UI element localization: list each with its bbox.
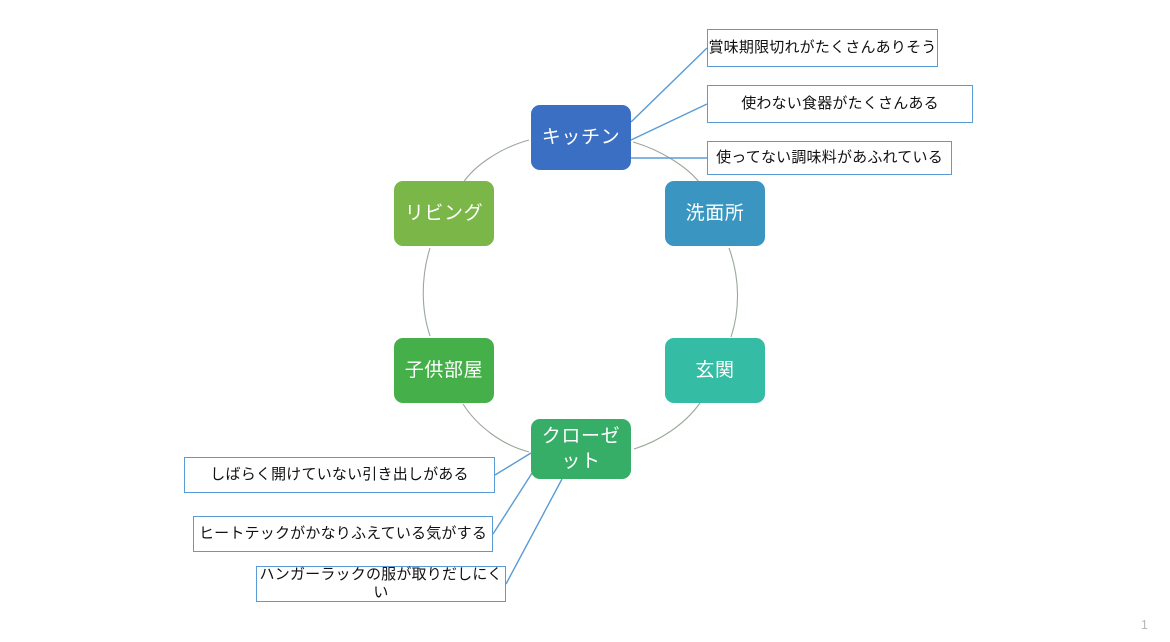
- node-closet[interactable]: クローゼット: [531, 419, 631, 479]
- connector-kitchen-note-2: [631, 104, 707, 140]
- callout-kitchen-note-2[interactable]: 使わない食器がたくさんある: [707, 85, 973, 123]
- page-number: 1: [1141, 617, 1148, 632]
- connector-closet-note-2: [493, 470, 534, 534]
- node-living[interactable]: リビング: [394, 181, 494, 246]
- node-living-label: リビング: [405, 201, 483, 226]
- callout-closet-note-1-text: しばらく開けていない引き出しがある: [210, 466, 468, 484]
- callout-closet-note-3[interactable]: ハンガーラックの服が取りだしにくい: [256, 566, 506, 602]
- node-entrance[interactable]: 玄関: [665, 338, 765, 403]
- callout-closet-note-2[interactable]: ヒートテックがかなりふえている気がする: [193, 516, 493, 552]
- node-closet-label: クローゼット: [537, 424, 625, 474]
- callout-kitchen-note-3-text: 使ってない調味料があふれている: [716, 149, 943, 167]
- arc-washroom-to-entrance: [729, 248, 738, 337]
- slide-canvas: キッチン 洗面所 玄関 クローゼット 子供部屋 リビング 賞味期限切れがたくさん…: [0, 0, 1170, 642]
- arc-closet-to-kidsroom: [463, 404, 529, 452]
- arc-kitchen-to-washroom: [633, 142, 699, 182]
- node-kitchen[interactable]: キッチン: [531, 105, 631, 170]
- node-washroom[interactable]: 洗面所: [665, 181, 765, 246]
- node-kitchen-label: キッチン: [542, 125, 620, 150]
- callout-kitchen-note-1-text: 賞味期限切れがたくさんありそう: [708, 39, 936, 57]
- callout-closet-note-1[interactable]: しばらく開けていない引き出しがある: [184, 457, 495, 493]
- arc-living-to-kitchen: [463, 140, 529, 183]
- connector-closet-note-3: [506, 479, 562, 584]
- node-washroom-label: 洗面所: [686, 201, 745, 226]
- callout-kitchen-note-3[interactable]: 使ってない調味料があふれている: [707, 141, 952, 175]
- callout-closet-note-2-text: ヒートテックがかなりふえている気がする: [199, 525, 487, 543]
- node-kids-room[interactable]: 子供部屋: [394, 338, 494, 403]
- arc-kidsroom-to-living: [423, 248, 430, 336]
- connector-layer: [0, 0, 1170, 642]
- callout-closet-note-3-text: ハンガーラックの服が取りだしにくい: [257, 566, 505, 602]
- connector-closet-note-1: [495, 453, 531, 475]
- node-kids-room-label: 子供部屋: [405, 358, 483, 383]
- callout-kitchen-note-2-text: 使わない食器がたくさんある: [741, 95, 939, 113]
- callout-kitchen-note-1[interactable]: 賞味期限切れがたくさんありそう: [707, 29, 938, 67]
- connector-kitchen-note-1: [631, 48, 707, 122]
- arc-entrance-to-closet: [634, 403, 700, 449]
- node-entrance-label: 玄関: [695, 358, 734, 383]
